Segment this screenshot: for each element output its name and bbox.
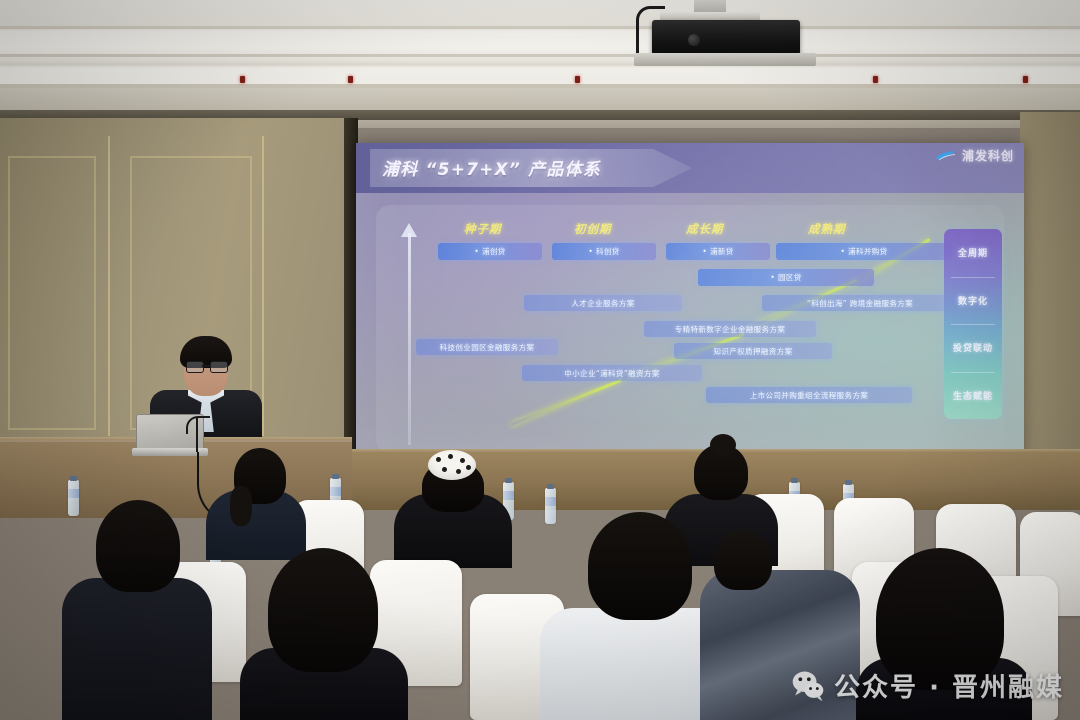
solution-box-2: • 浦新贷 [666, 243, 770, 260]
watermark-text: 公众号 · 晋州融媒 [834, 667, 1064, 704]
audience-member [394, 446, 512, 566]
glasses-icon [186, 361, 226, 371]
ceiling-led [348, 76, 353, 83]
solution-box-4: • 园区贷 [698, 269, 874, 286]
solution-box-6: “科创出海” 跨境金融服务方案 [762, 295, 958, 311]
pufa-kechuang-logo-icon [935, 149, 957, 162]
wall-panel [8, 156, 96, 430]
microphone-arm [186, 416, 210, 434]
slide-sidebar: 全周期数字化投贷联动生态赋能 [944, 229, 1002, 419]
projector-tray [634, 53, 816, 66]
projection-screen: 浦科 “5+7+X” 产品体系 浦发科创 种子期初创期成长期成熟期 • 浦创贷•… [356, 143, 1024, 463]
solution-box-9: 知识产权质押融资方案 [674, 343, 832, 359]
audience-member [206, 448, 306, 558]
stage-header-2: 成长期 [686, 221, 724, 237]
ceiling-beam-2 [0, 54, 1080, 57]
wechat-icon [791, 669, 825, 703]
ceiling-beam-1 [0, 26, 1080, 29]
sidebar-item-3: 生态赋能 [944, 372, 1002, 420]
ceiling-led [575, 76, 580, 83]
watermark: 公众号 · 晋州融媒 [791, 667, 1064, 704]
solution-box-8: 科技创业园区金融服务方案 [416, 339, 558, 355]
brand-lockup: 浦发科创 [935, 147, 1014, 164]
projector-lens-icon [688, 34, 700, 46]
sidebar-item-0: 全周期 [944, 229, 1002, 277]
audience-member [62, 500, 212, 720]
ceiling-led [1023, 76, 1028, 83]
vertical-axis [408, 233, 411, 445]
stage-header-1: 初创期 [574, 221, 612, 237]
conference-room-photo: 浦科 “5+7+X” 产品体系 浦发科创 种子期初创期成长期成熟期 • 浦创贷•… [0, 0, 1080, 720]
solution-box-0: • 浦创贷 [438, 243, 542, 260]
sidebar-divider [951, 324, 995, 325]
sidebar-divider [951, 372, 995, 373]
solution-box-11: 上市公司并购重组全流程服务方案 [706, 387, 912, 403]
solution-box-3: • 浦科并购贷 [776, 243, 952, 260]
sidebar-divider [951, 277, 995, 278]
hair-scrunchie [428, 450, 476, 480]
ceiling-led [873, 76, 878, 83]
audience-member [240, 548, 408, 720]
sidebar-item-1: 数字化 [944, 277, 1002, 325]
solution-box-10: 中小企业“浦科贷”融资方案 [522, 365, 702, 381]
right-wall-panel [1020, 112, 1080, 472]
sidebar-item-2: 投贷联动 [944, 324, 1002, 372]
solution-box-1: • 科创贷 [552, 243, 656, 260]
solution-box-5: 人才企业服务方案 [524, 295, 682, 311]
panel-trim [108, 136, 110, 436]
panel-trim [262, 136, 264, 436]
stage-header-3: 成熟期 [808, 221, 846, 237]
microphone-stand [196, 418, 198, 452]
slide-title: 浦科 “5+7+X” 产品体系 [382, 155, 601, 180]
solution-box-7: 专精特新数字企业金融服务方案 [644, 321, 816, 337]
ceiling-projector [652, 20, 800, 55]
ceiling-led [240, 76, 245, 83]
brand-name: 浦发科创 [962, 147, 1014, 164]
stage-header-0: 种子期 [464, 221, 502, 237]
ceiling [0, 0, 1080, 92]
